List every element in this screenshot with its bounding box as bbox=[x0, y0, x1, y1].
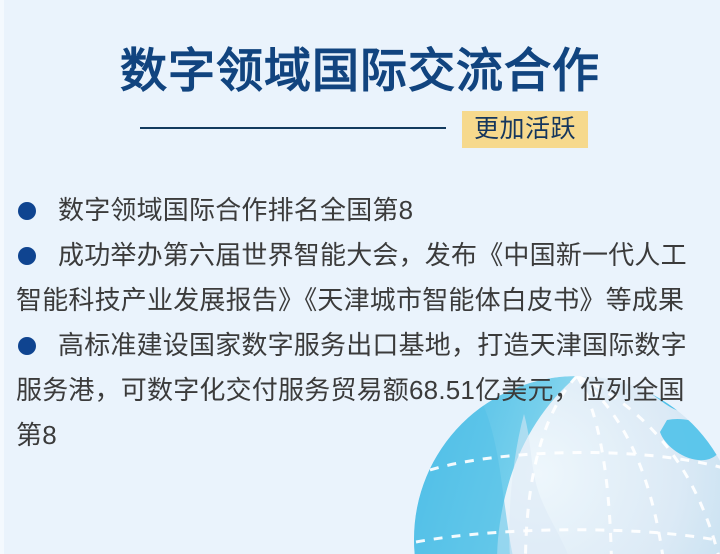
list-item: 高标准建设国家数字服务出口基地，打造天津国际数字服务港，可数字化交付服务贸易额6… bbox=[16, 323, 706, 458]
bullet-list: 数字领域国际合作排名全国第8 成功举办第六届世界智能大会，发布《中国新一代人工智… bbox=[16, 188, 706, 458]
bullet-dot-icon bbox=[18, 247, 36, 265]
globe-parallels bbox=[416, 453, 720, 554]
page-title: 数字领域国际交流合作 bbox=[0, 42, 720, 100]
list-item: 成功举办第六届世界智能大会，发布《中国新一代人工智能科技产业发展报告》《天津城市… bbox=[16, 233, 706, 323]
list-item-text: 数字领域国际合作排名全国第8 bbox=[58, 195, 413, 225]
list-item-text: 高标准建设国家数字服务出口基地，打造天津国际数字服务港，可数字化交付服务贸易额6… bbox=[16, 330, 687, 450]
bullet-dot-icon bbox=[18, 202, 36, 220]
bullet-dot-icon bbox=[18, 337, 36, 355]
status-badge: 更加活跃 bbox=[462, 111, 588, 148]
slide-canvas: 数字领域国际交流合作 更加活跃 数字领域国际合作排名全国第8 成功举办第六届世界… bbox=[0, 0, 720, 554]
status-badge-label: 更加活跃 bbox=[474, 117, 576, 142]
slide-header: 数字领域国际交流合作 更加活跃 bbox=[0, 0, 720, 170]
title-divider bbox=[140, 127, 446, 129]
list-item-text: 成功举办第六届世界智能大会，发布《中国新一代人工智能科技产业发展报告》《天津城市… bbox=[16, 240, 687, 315]
list-item: 数字领域国际合作排名全国第8 bbox=[16, 188, 706, 233]
